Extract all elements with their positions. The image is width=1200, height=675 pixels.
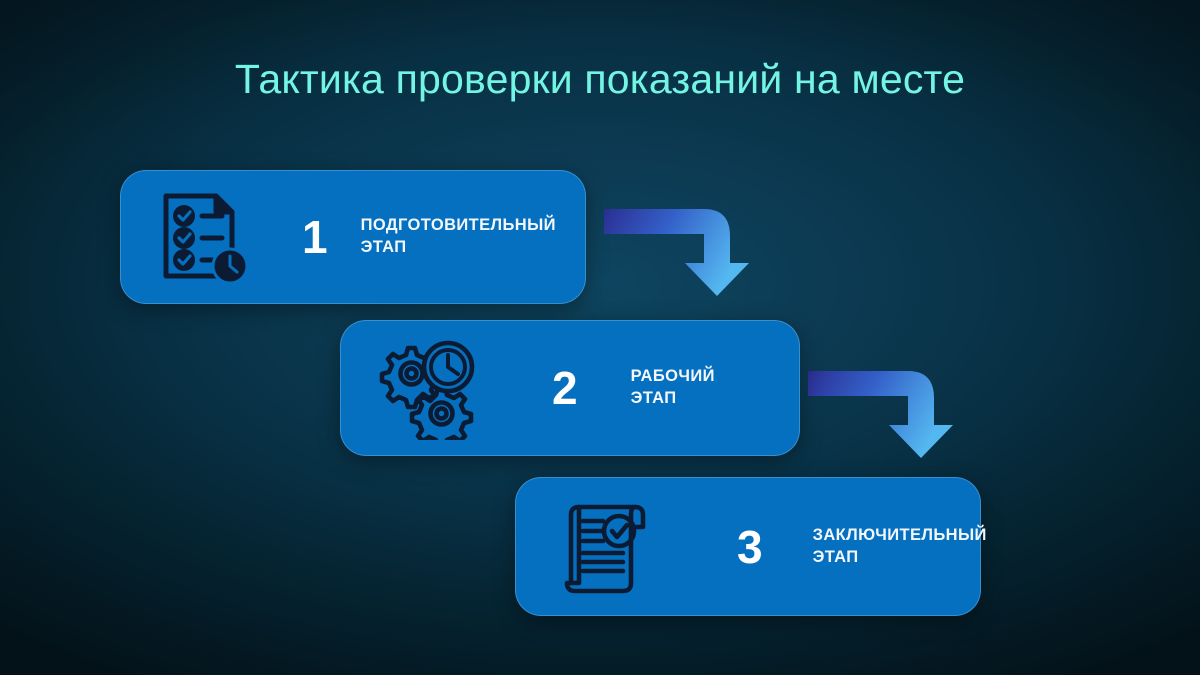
step-label: ПОДГОТОВИТЕЛЬНЫЙ ЭТАП: [361, 215, 556, 259]
slide-canvas: Тактика проверки показаний на месте: [0, 0, 1200, 675]
step-number: 1: [302, 214, 328, 260]
step-label-line1: ЗАКЛЮЧИТЕЛЬНЫЙ: [813, 525, 987, 547]
step-label-line2: ЭТАП: [361, 237, 556, 259]
page-title: Тактика проверки показаний на месте: [0, 56, 1200, 103]
arrow-step1-to-step2: [604, 206, 754, 298]
step-label: ЗАКЛЮЧИТЕЛЬНЫЙ ЭТАП: [813, 525, 987, 569]
step-card-2[interactable]: 2 РАБОЧИЙ ЭТАП: [340, 320, 800, 456]
step-label-line2: ЭТАП: [631, 388, 715, 410]
step-number: 3: [737, 524, 763, 570]
step-card-3[interactable]: 3 ЗАКЛЮЧИТЕЛЬНЫЙ ЭТАП: [515, 477, 981, 616]
gears-clock-icon: [378, 336, 482, 440]
step-label: РАБОЧИЙ ЭТАП: [631, 366, 715, 410]
step-label-line1: РАБОЧИЙ: [631, 366, 715, 388]
step-label-line2: ЭТАП: [813, 547, 987, 569]
step-number: 2: [552, 365, 578, 411]
arrow-step2-to-step3: [808, 368, 958, 460]
step-card-1[interactable]: 1 ПОДГОТОВИТЕЛЬНЫЙ ЭТАП: [120, 170, 586, 304]
scroll-check-icon: [561, 497, 657, 597]
step-label-line1: ПОДГОТОВИТЕЛЬНЫЙ: [361, 215, 556, 237]
checklist-clock-icon: [158, 188, 250, 286]
